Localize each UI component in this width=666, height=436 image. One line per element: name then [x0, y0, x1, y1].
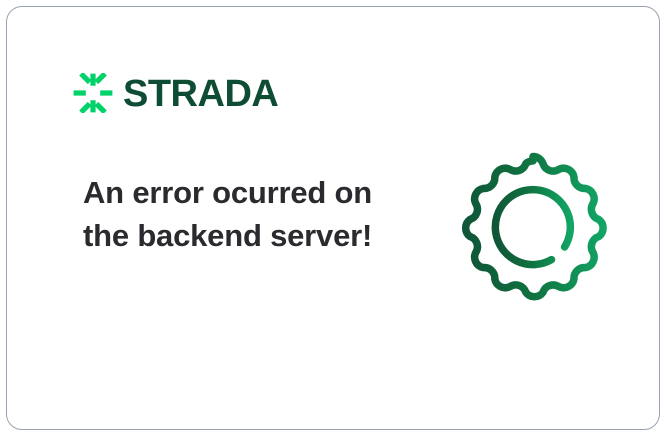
gear-cog-icon: [454, 148, 612, 306]
error-card: STRADA An error ocurred on the backend s…: [6, 6, 660, 430]
screen: STRADA An error ocurred on the backend s…: [0, 0, 666, 436]
brand-lockup: STRADA: [73, 69, 278, 117]
strada-asterisk-icon: [73, 73, 113, 113]
brand-wordmark: STRADA: [123, 75, 278, 113]
error-message: An error ocurred on the backend server!: [83, 171, 383, 257]
